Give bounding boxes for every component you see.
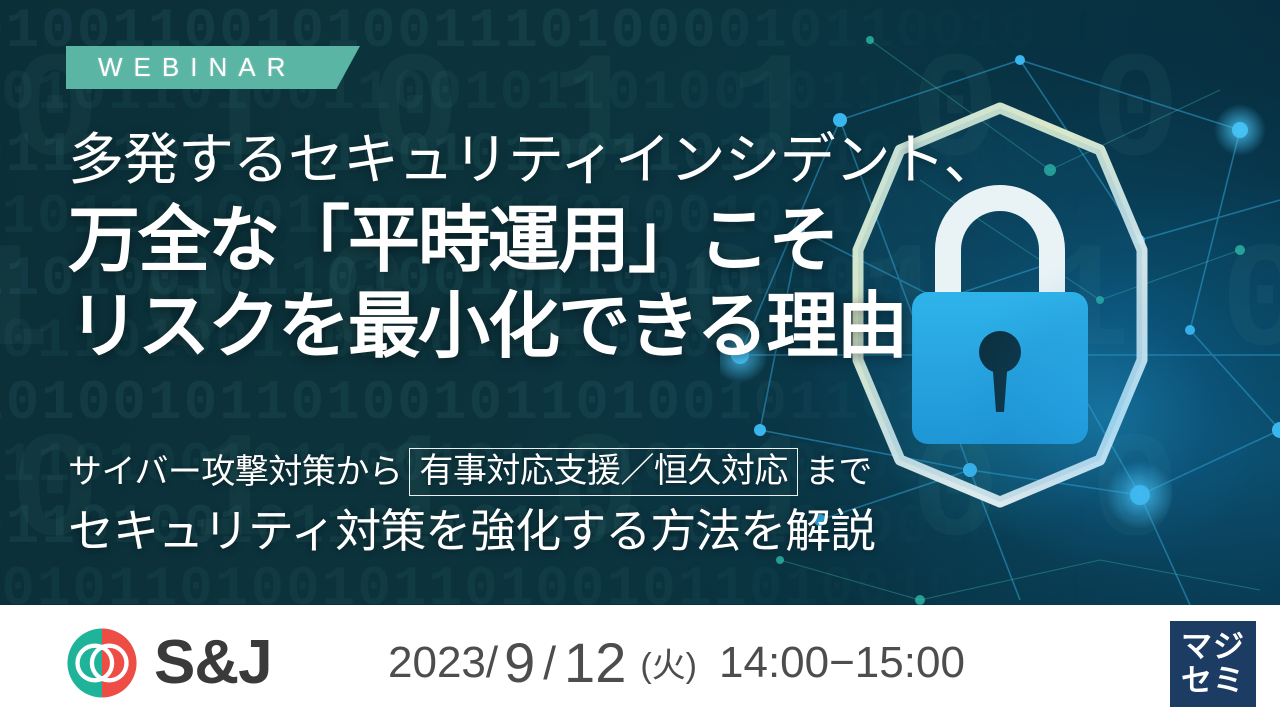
company-logo: S&J [66, 627, 272, 699]
event-datetime: 2023/ 9 / 12 (火) 14:00−15:00 [388, 605, 965, 720]
footer-bar: S&J 2023/ 9 / 12 (火) 14:00−15:00 マジ セミ [0, 605, 1280, 720]
date-separator: / [541, 636, 558, 690]
subheadline-boxed-term: 有事対応支援／恒久対応 [409, 448, 798, 496]
subheadline-suffix: まで [805, 449, 872, 495]
headline-line-3: リスクを最小化できる理由 [68, 284, 999, 370]
headline: 多発するセキュリティインシデント、 万全な「平時運用」こそ リスクを最小化できる… [68, 126, 999, 370]
provider-logo-line-2: セミ [1181, 664, 1245, 698]
date-month: 9 [498, 630, 541, 695]
subheadline-prefix: サイバー攻撃対策から [68, 449, 402, 495]
hero-background: 0100110010100111010000101100101001101001… [0, 0, 1280, 605]
subheadline-line-1: サイバー攻撃対策から 有事対応支援／恒久対応 まで [68, 448, 875, 496]
headline-line-1: 多発するセキュリティインシデント、 [68, 126, 999, 194]
subheadline-line-2: セキュリティ対策を強化する方法を解説 [68, 502, 875, 560]
webinar-badge: WEBINAR [66, 46, 360, 89]
sj-circle-mark-icon [66, 627, 138, 699]
company-name: S&J [154, 627, 272, 699]
provider-logo: マジ セミ [1170, 621, 1256, 707]
subheadline: サイバー攻撃対策から 有事対応支援／恒久対応 まで セキュリティ対策を強化する方… [68, 448, 875, 560]
headline-line-2: 万全な「平時運用」こそ [68, 198, 999, 284]
date-day-of-week: (火) [632, 638, 697, 687]
webinar-badge-label: WEBINAR [66, 52, 296, 83]
provider-logo-line-1: マジ [1181, 630, 1245, 664]
webinar-banner: 0100110010100111010000101100101001101001… [0, 0, 1280, 720]
event-time: 14:00−15:00 [697, 638, 965, 688]
date-day: 12 [558, 630, 632, 695]
date-year: 2023/ [388, 638, 498, 688]
